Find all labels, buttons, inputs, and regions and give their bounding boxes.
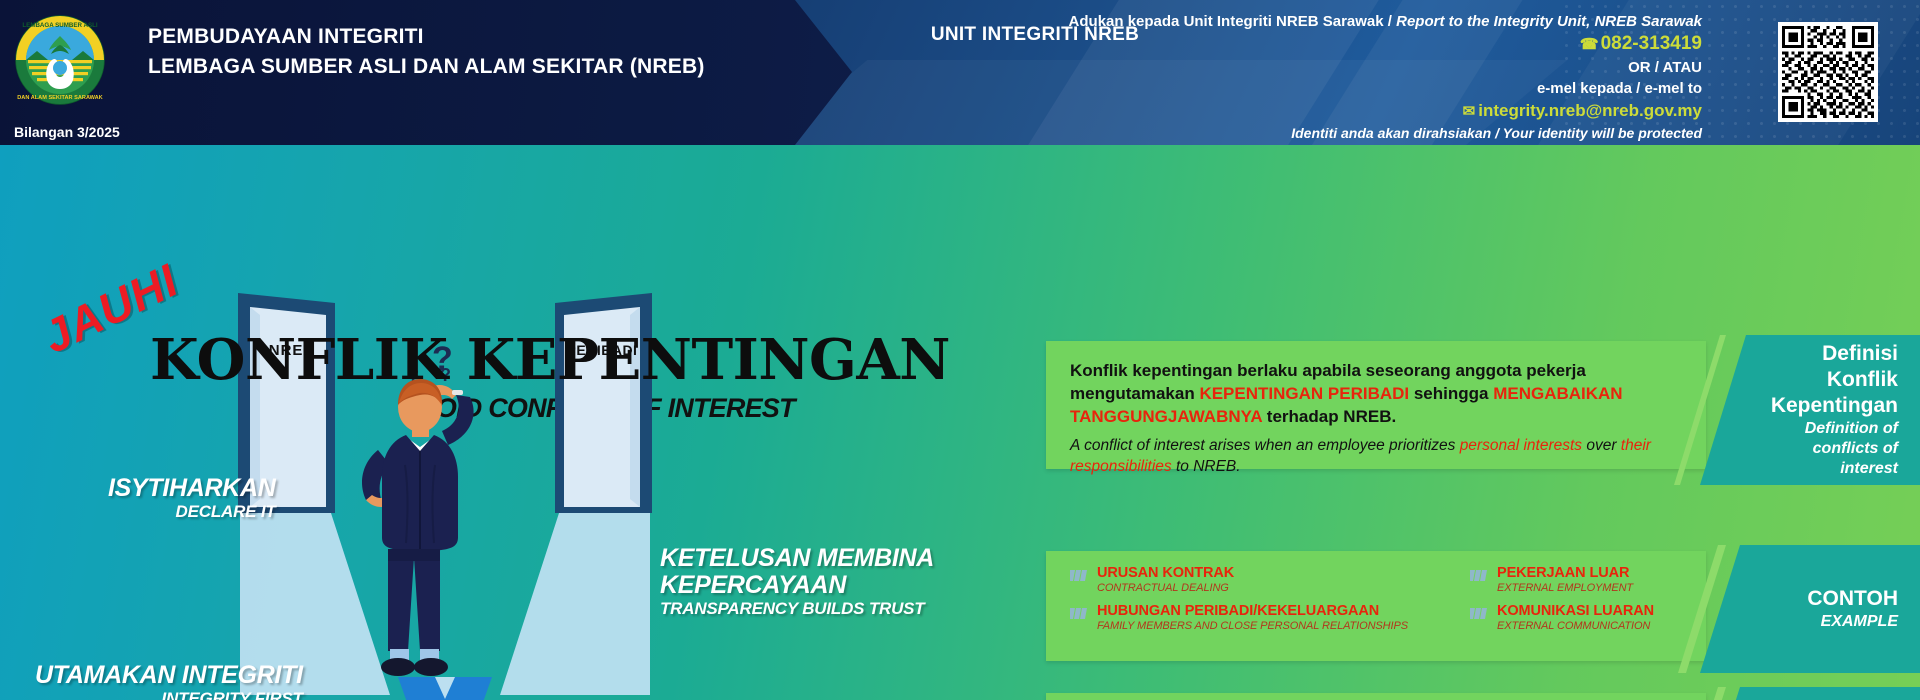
tagline-transparency-en: TRANSPARENCY BUILDS TRUST [660, 599, 934, 618]
page-header: LEMBAGA SUMBER ASLI DAN ALAM SEKITAR SAR… [0, 0, 1920, 145]
contact-phone-row[interactable]: ☎082-313419 [962, 32, 1702, 57]
tagline-declare-en: DECLARE IT [108, 502, 276, 521]
example-item: PEKERJAAN LUAR EXTERNAL EMPLOYMENT [1470, 565, 1730, 603]
privacy-note: Identiti anda akan dirahsiakan / Your id… [962, 123, 1702, 143]
issue-number: Bilangan 3/2025 [14, 124, 120, 140]
report-line-separator: / [1388, 13, 1392, 30]
svg-text:LEMBAGA SUMBER ASLI: LEMBAGA SUMBER ASLI [22, 22, 97, 29]
example-item-en: FAMILY MEMBERS AND CLOSE PERSONAL RELATI… [1097, 619, 1408, 633]
tagline-integrity-ms: UTAMAKAN INTEGRITI [35, 662, 303, 689]
chevron-stripes-icon [1070, 568, 1090, 586]
definition-en-part1: A conflict of interest arises when an em… [1070, 437, 1460, 454]
definition-en-part3: to NREB. [1172, 458, 1241, 475]
page-title: KONFLIK KEPENTINGAN [150, 327, 950, 393]
examples-tab-en: EXAMPLE [1821, 612, 1898, 632]
example-item-ms: HUBUNGAN PERIBADI/KEKELUARGAAN [1097, 603, 1408, 619]
action-tab: Tindakan Action step [1700, 687, 1920, 700]
tagline-integrity-first: UTAMAKAN INTEGRITI INTEGRITY FIRST [35, 662, 303, 700]
tagline-declare-ms: ISYTIHARKAN [108, 475, 276, 502]
example-item-ms: PEKERJAAN LUAR [1497, 565, 1633, 581]
definition-tab-ms-line3: Kepentingan [1771, 393, 1898, 419]
contact-email[interactable]: integrity.nreb@nreb.gov.my [1478, 101, 1702, 120]
programme-title: PEMBUDAYAAN INTEGRITI [148, 22, 705, 52]
chevron-stripes-icon [1470, 568, 1490, 586]
example-item-ms: KOMUNIKASI LUARAN [1497, 603, 1654, 619]
tagline-transparency-builds-trust: KETELUSAN MEMBINA KEPERCAYAAN TRANSPAREN… [660, 545, 934, 618]
contact-phone[interactable]: 082-313419 [1601, 33, 1702, 54]
definition-text-ms: Konflik kepentingan berlaku apabila sese… [1070, 359, 1682, 428]
organisation-titles: PEMBUDAYAAN INTEGRITI LEMBAGA SUMBER ASL… [148, 22, 705, 82]
examples-grid: URUSAN KONTRAK CONTRACTUAL DEALING PEKER… [1046, 551, 1706, 661]
agency-title: LEMBAGA SUMBER ASLI DAN ALAM SEKITAR (NR… [148, 52, 705, 82]
tagline-declare-it: ISYTIHARKAN DECLARE IT [108, 475, 276, 521]
or-text: OR / ATAU [962, 57, 1702, 78]
definition-ms-highlight1: KEPENTINGAN PERIBADI [1199, 384, 1409, 403]
example-item-en: EXTERNAL EMPLOYMENT [1497, 581, 1633, 595]
qr-code[interactable] [1778, 22, 1878, 122]
definition-tab: Definisi Konflik Kepentingan Definition … [1700, 335, 1920, 485]
nreb-crest-logo: LEMBAGA SUMBER ASLI DAN ALAM SEKITAR SAR… [14, 14, 106, 106]
tagline-transparency-ms-line1: KETELUSAN MEMBINA [660, 545, 934, 572]
definition-tab-en-line1: Definition of [1805, 419, 1898, 439]
definition-tab-ms-line1: Definisi [1822, 341, 1898, 367]
definition-en-highlight1: personal interests [1460, 437, 1582, 454]
examples-tab: CONTOH EXAMPLE [1700, 545, 1920, 673]
definition-tab-en-line2: conflicts of [1813, 439, 1898, 459]
action-panel: Laporkan sebarang kemungkinan konflik ke… [1046, 693, 1706, 700]
contact-block: Adukan kepada Unit Integriti NREB Sarawa… [962, 12, 1702, 143]
poster-body: JAUHI KONFLIK KEPENTINGAN AVOID CONFLICT… [0, 145, 1920, 700]
svg-text:DAN ALAM SEKITAR SARAWAK: DAN ALAM SEKITAR SARAWAK [17, 95, 102, 101]
definition-ms-part2: sehingga [1409, 384, 1493, 403]
report-line: Adukan kepada Unit Integriti NREB Sarawa… [962, 12, 1702, 32]
example-item-ms: URUSAN KONTRAK [1097, 565, 1234, 581]
tagline-transparency-ms-line2: KEPERCAYAAN [660, 572, 934, 599]
definition-en-part2: over [1582, 437, 1621, 454]
definition-tab-en-line3: interest [1840, 459, 1898, 479]
report-line-ms: Adukan kepada Unit Integriti NREB Sarawa… [1069, 13, 1384, 30]
phone-icon: ☎ [1580, 36, 1599, 53]
tagline-integrity-en: INTEGRITY FIRST [35, 689, 303, 700]
report-line-en: Report to the Integrity Unit, NREB Saraw… [1396, 13, 1702, 30]
example-item-en: CONTRACTUAL DEALING [1097, 581, 1234, 595]
envelope-icon: ✉ [1463, 103, 1476, 120]
definition-text-en: A conflict of interest arises when an em… [1070, 435, 1682, 477]
chevron-stripes-icon [1470, 606, 1490, 624]
example-item: URUSAN KONTRAK CONTRACTUAL DEALING [1070, 565, 1470, 603]
chevron-stripes-icon [1070, 606, 1090, 624]
examples-tab-ms: CONTOH [1807, 586, 1898, 612]
definition-panel: Konflik kepentingan berlaku apabila sese… [1046, 341, 1706, 469]
definition-tab-ms-line2: Konflik [1827, 367, 1898, 393]
email-label: e-mel kepada / e-mel to [962, 78, 1702, 99]
example-item-en: EXTERNAL COMMUNICATION [1497, 619, 1654, 633]
contact-email-row[interactable]: ✉integrity.nreb@nreb.gov.my [962, 99, 1702, 123]
definition-ms-part3: terhadap NREB. [1262, 407, 1396, 426]
example-item: HUBUNGAN PERIBADI/KEKELUARGAAN FAMILY ME… [1070, 603, 1470, 641]
